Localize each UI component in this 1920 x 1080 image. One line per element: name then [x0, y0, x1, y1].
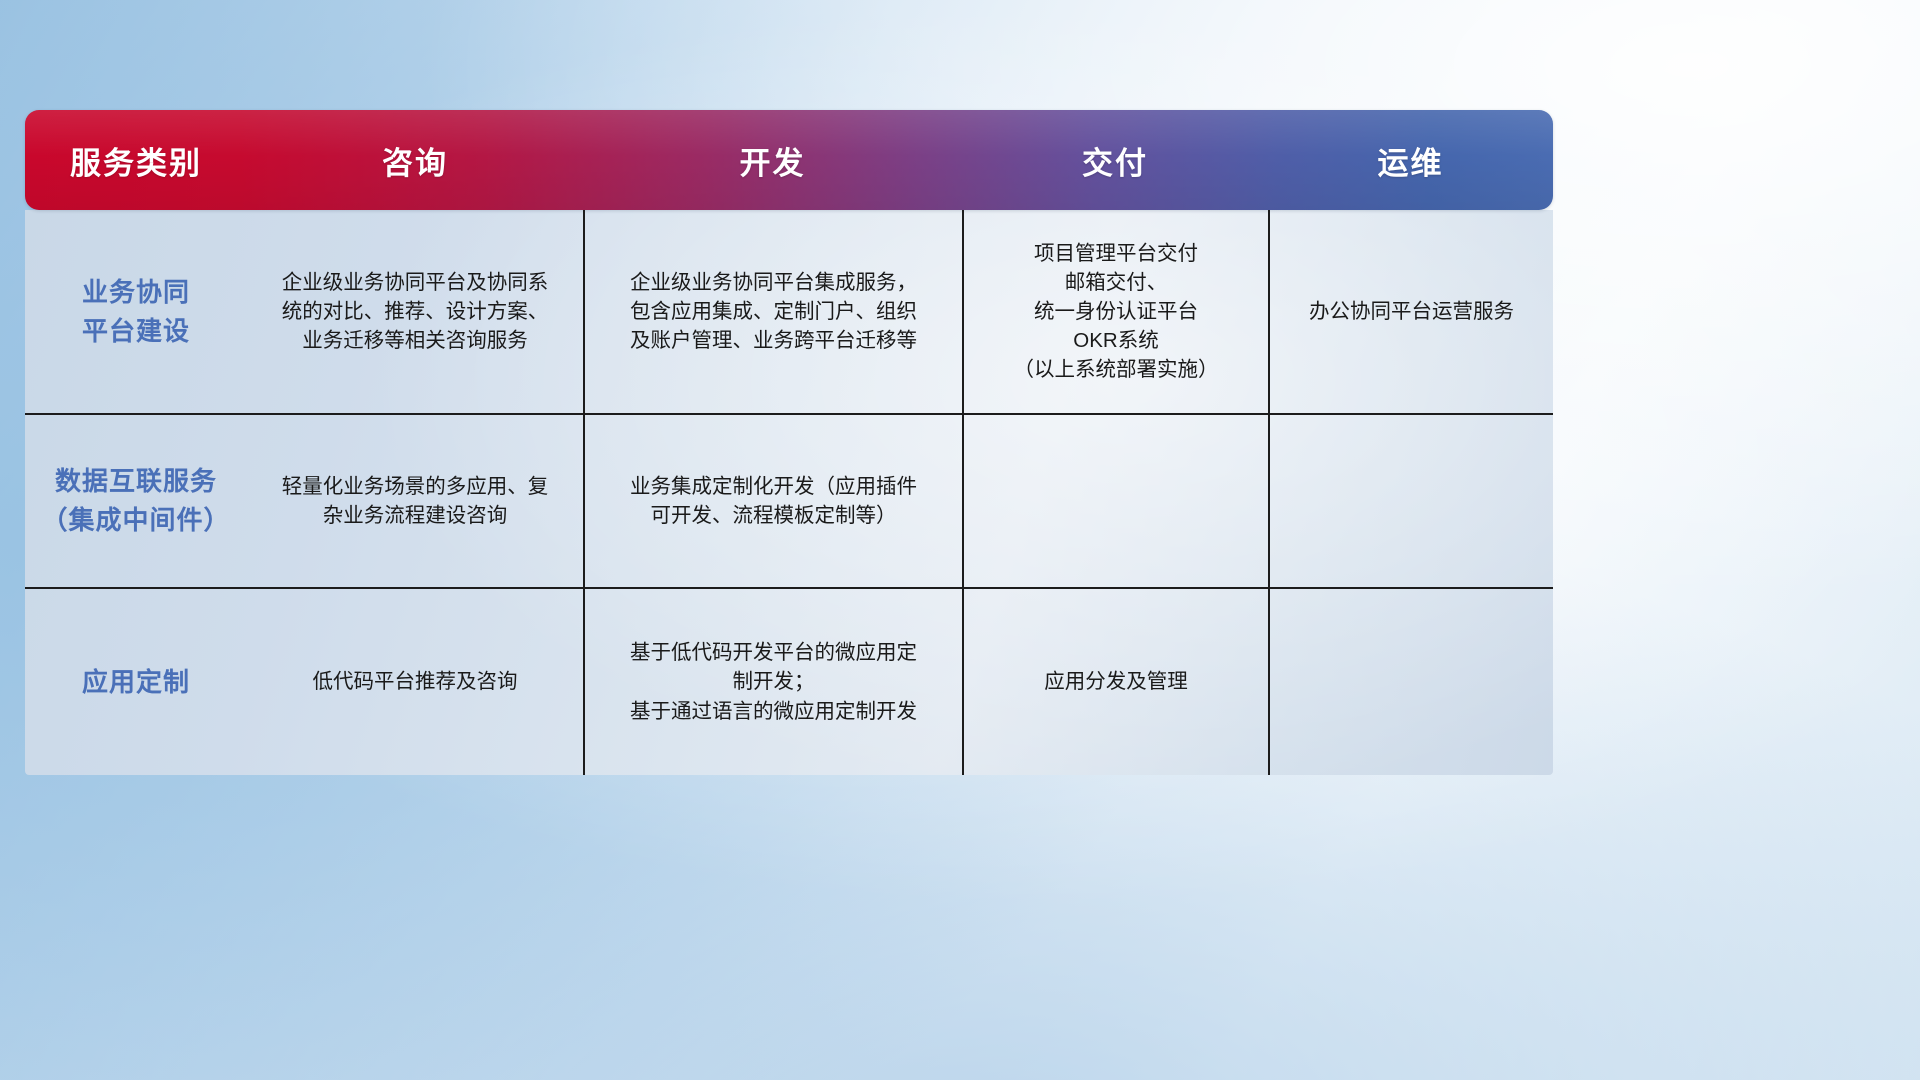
table-header-row: 服务类别 咨询 开发 交付 运维: [25, 110, 1553, 210]
cell-operations: [1268, 415, 1553, 587]
header-cell-service-category: 服务类别: [25, 138, 247, 183]
cell-consulting: 轻量化业务场景的多应用、复 杂业务流程建设咨询: [247, 415, 583, 587]
cell-development: 企业级业务协同平台集成服务， 包含应用集成、定制门户、组织 及账户管理、业务跨平…: [583, 210, 962, 413]
cell-development: 基于低代码开发平台的微应用定 制开发； 基于通过语言的微应用定制开发: [583, 589, 962, 775]
service-matrix-table: 服务类别 咨询 开发 交付 运维 业务协同 平台建设 企业级业务协同平台及协同系…: [25, 110, 1553, 775]
header-cell-operations: 运维: [1268, 138, 1553, 183]
cell-consulting: 低代码平台推荐及咨询: [247, 589, 583, 775]
table-body: 业务协同 平台建设 企业级业务协同平台及协同系 统的对比、推荐、设计方案、 业务…: [25, 210, 1553, 775]
header-cell-consulting: 咨询: [247, 138, 583, 183]
table-row: 数据互联服务 （集成中间件） 轻量化业务场景的多应用、复 杂业务流程建设咨询 业…: [25, 413, 1553, 587]
cell-delivery: 项目管理平台交付 邮箱交付、 统一身份认证平台 OKR系统 （以上系统部署实施）: [962, 210, 1268, 413]
cell-delivery: [962, 415, 1268, 587]
cell-delivery: 应用分发及管理: [962, 589, 1268, 775]
cell-operations: [1268, 589, 1553, 775]
header-cell-development: 开发: [583, 138, 962, 183]
row-category-label: 应用定制: [25, 589, 247, 775]
header-cell-delivery: 交付: [962, 138, 1268, 183]
cell-operations: 办公协同平台运营服务: [1268, 210, 1553, 413]
cell-consulting: 企业级业务协同平台及协同系 统的对比、推荐、设计方案、 业务迁移等相关咨询服务: [247, 210, 583, 413]
row-category-label: 数据互联服务 （集成中间件）: [25, 415, 247, 587]
row-category-label: 业务协同 平台建设: [25, 210, 247, 413]
cell-development: 业务集成定制化开发（应用插件 可开发、流程模板定制等）: [583, 415, 962, 587]
table-row: 业务协同 平台建设 企业级业务协同平台及协同系 统的对比、推荐、设计方案、 业务…: [25, 210, 1553, 413]
table-row: 应用定制 低代码平台推荐及咨询 基于低代码开发平台的微应用定 制开发； 基于通过…: [25, 587, 1553, 775]
